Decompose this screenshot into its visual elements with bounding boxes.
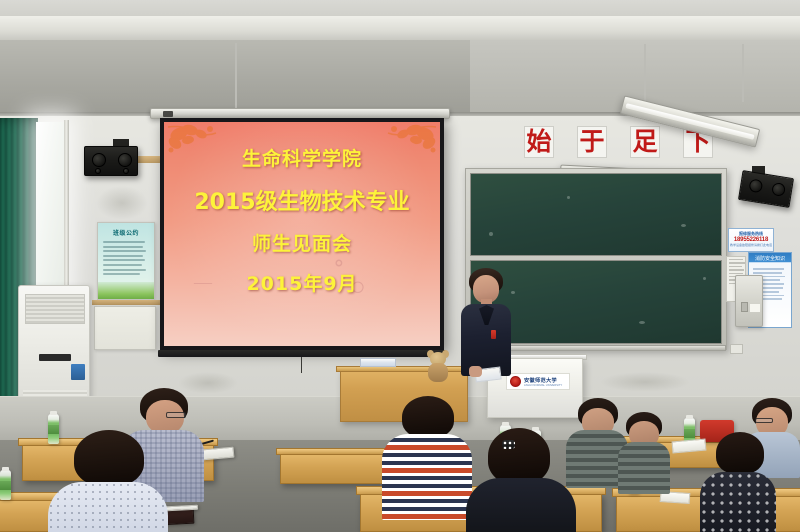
wall-speaker-left [84, 146, 138, 176]
paper-stack [360, 358, 396, 367]
poster-grass-illustration [98, 282, 154, 299]
ac-energy-label [71, 364, 85, 380]
audience-torso [466, 478, 576, 532]
audience-hair [488, 428, 550, 484]
eyeglasses-icon [166, 412, 186, 418]
slide-text-block: 生命科学学院 2015级生物技术专业 师生见面会 2015年9月 [164, 122, 440, 296]
presenter-speaker [455, 268, 517, 388]
teacher-desk-top [336, 366, 472, 372]
wall-socket [730, 344, 743, 354]
audience-torso [382, 434, 472, 520]
audience-member [382, 396, 472, 516]
university-subtitle: ANHUI NORMAL UNIVERSITY [524, 384, 566, 387]
screen-bottom-weight-bar [158, 350, 446, 357]
light-hanger-rod [742, 44, 744, 102]
screen-pull-cord[interactable] [301, 357, 302, 373]
audience-torso [700, 472, 776, 532]
ac-vent-grille [25, 294, 85, 324]
repair-hotline-sign: 报修服务热线 18955226118 教学设备故障报修请拨打此电话 [728, 228, 774, 252]
blackboard-upper-panel [470, 173, 722, 256]
audience-member [700, 432, 776, 532]
secondary-poster [94, 306, 156, 350]
audience-member [466, 428, 576, 532]
poster-title: 班级公约 [98, 223, 154, 237]
audience-torso [618, 442, 670, 494]
hair-clip [502, 440, 515, 449]
slide-line-1: 生命科学学院 [164, 144, 440, 171]
poster-rule-list [98, 237, 154, 275]
audience-hair [716, 432, 764, 474]
audience-member [48, 430, 168, 532]
light-hanger-rod [235, 43, 237, 109]
slide-line-2: 2015级生物技术专业 [164, 184, 440, 216]
audience-member [618, 412, 670, 492]
hotline-note: 教学设备故障报修请拨打此电话 [729, 243, 773, 247]
wall-stain [600, 372, 690, 392]
calligraphy-char-2: 于 [577, 126, 607, 158]
presenter-hand [469, 366, 482, 377]
ac-display-panel [39, 354, 71, 361]
control-label [750, 304, 760, 312]
audience-torso [48, 482, 168, 532]
calligraphy-char-3: 足 [630, 126, 660, 158]
slide-line-3: 师生见面会 [164, 229, 440, 256]
plush-toy [427, 352, 449, 382]
plush-body [428, 363, 448, 382]
ceiling-beam [0, 16, 800, 42]
water-bottle [0, 470, 11, 500]
projected-slide: ∘ ○ — 生命科学学院 2015级生物技术专业 师生见面会 2015年9月 [164, 122, 440, 346]
classroom-photo-scene: 班级公约 始 于 足 下 [0, 0, 800, 532]
wall-control-box[interactable] [735, 275, 763, 327]
wooden-batten [92, 300, 160, 305]
class-charter-poster: 班级公约 [97, 222, 155, 300]
presenter-badge [491, 330, 496, 339]
hotline-heading: 报修服务热线 [729, 229, 773, 237]
roller-knob [163, 111, 173, 117]
audience-hair [402, 396, 454, 438]
fire-safety-heading: 消防安全知识 [749, 253, 791, 265]
audience-hair [74, 430, 144, 486]
university-name: 安徽师范大学 [524, 377, 566, 384]
slide-line-4: 2015年9月 [164, 269, 440, 296]
projection-screen: ∘ ○ — 生命科学学院 2015级生物技术专业 师生见面会 2015年9月 [160, 118, 444, 350]
air-conditioner[interactable] [18, 285, 90, 410]
wall-stain [96, 186, 148, 220]
eyeglasses-icon [755, 418, 773, 423]
calligraphy-char-1: 始 [524, 126, 554, 158]
control-switch[interactable] [741, 302, 748, 312]
